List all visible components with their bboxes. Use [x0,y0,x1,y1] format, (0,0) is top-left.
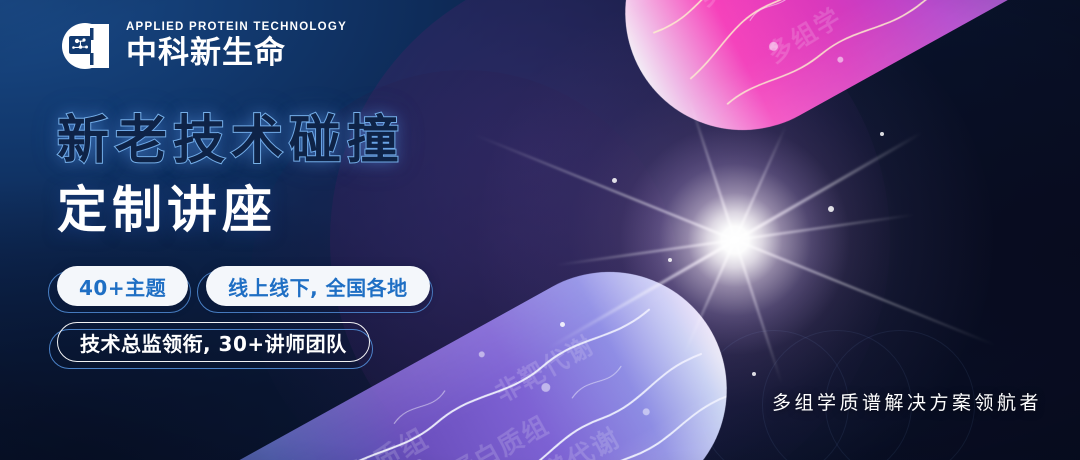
badge-row-primary: 40+主题 线上线下, 全国各地 [57,266,430,306]
page-title: 新老技术碰撞 定制讲座 [57,112,405,238]
applied-protein-logo-icon [57,20,113,72]
badge-row-secondary: 技术总监领衔, 30+讲师团队 [57,322,370,362]
brand-english-name: APPLIED PROTEIN TECHNOLOGY [126,22,347,34]
headline-line-2: 定制讲座 [57,182,405,238]
promotional-banner: 奥斯卡蛋白质组 多组学 定量蛋白质组-P7000 靶向代谢组 蛋白质组 [0,0,1080,460]
headline-line-1: 新老技术碰撞 [57,112,405,170]
tagline: 多组学质谱解决方案领航者 [772,388,1042,415]
magenta-energy-bar: 奥斯卡蛋白质组 多组学 定量蛋白质组-P7000 靶向代谢组 蛋白质组 [583,0,1080,172]
badge-instructors[interactable]: 技术总监领衔, 30+讲师团队 [57,322,370,362]
brand-chinese-name: 中科新生命 [126,37,347,70]
brand-logo: APPLIED PROTEIN TECHNOLOGY 中科新生命 [57,20,347,72]
brand-logo-text: APPLIED PROTEIN TECHNOLOGY 中科新生命 [126,22,347,69]
badge-topics[interactable]: 40+主题 [57,266,188,306]
badge-locations[interactable]: 线上线下, 全国各地 [206,266,430,306]
